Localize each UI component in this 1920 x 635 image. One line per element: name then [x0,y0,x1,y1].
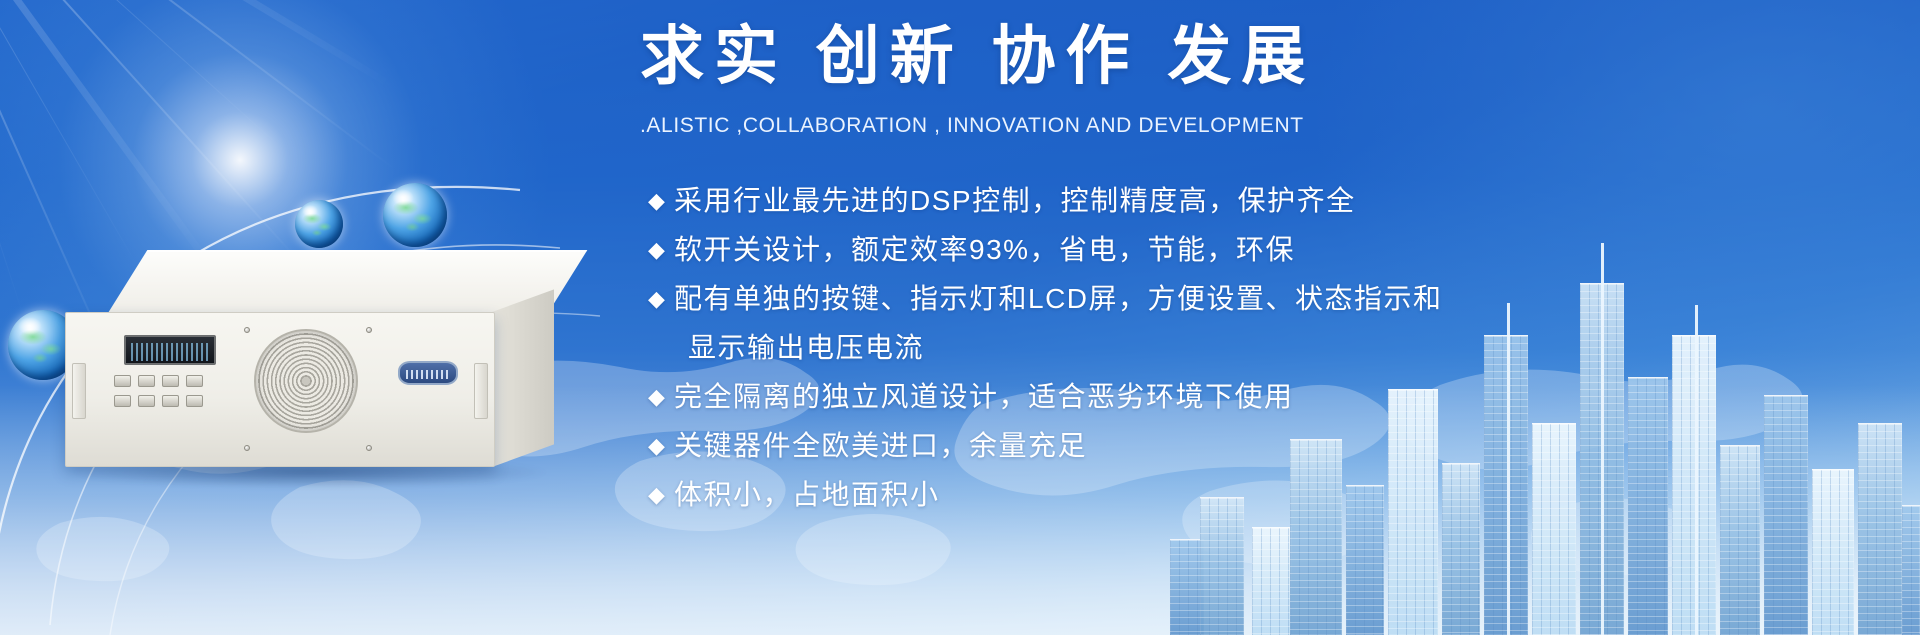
feature-bullet-item: ◆体积小，占地面积小 [648,470,1708,519]
feature-bullet-text: 软开关设计，额定效率93%，省电，节能，环保 [674,225,1295,274]
bullet-diamond-icon: ◆ [648,372,674,421]
promo-banner: 求实 创新 协作 发展 .ALISTIC ,COLLABORATION , IN… [0,0,1920,635]
feature-bullet-text: 关键器件全欧美进口，余量充足 [674,421,1087,470]
banner-content: 求实 创新 协作 发展 .ALISTIC ,COLLABORATION , IN… [0,0,1920,635]
feature-bullet-text: 体积小，占地面积小 [674,470,940,519]
feature-bullet-item: ◆显示输出电压电流 [648,323,1708,372]
feature-bullet-text: 显示输出电压电流 [674,323,924,372]
feature-bullet-text: 配有单独的按键、指示灯和LCD屏，方便设置、状态指示和 [674,274,1443,323]
feature-bullet-item: ◆配有单独的按键、指示灯和LCD屏，方便设置、状态指示和 [648,274,1708,323]
bullet-diamond-icon: ◆ [648,421,674,470]
subtitle: .ALISTIC ,COLLABORATION , INNOVATION AND… [640,114,1304,138]
bullet-diamond-icon: ◆ [648,274,674,323]
feature-bullet-item: ◆软开关设计，额定效率93%，省电，节能，环保 [648,225,1708,274]
bullet-diamond-icon: ◆ [648,176,674,225]
feature-bullet-item: ◆完全隔离的独立风道设计，适合恶劣环境下使用 [648,372,1708,421]
bullet-diamond-icon: ◆ [648,225,674,274]
feature-bullet-item: ◆关键器件全欧美进口，余量充足 [648,421,1708,470]
feature-bullet-text: 采用行业最先进的DSP控制，控制精度高，保护齐全 [674,176,1356,225]
headline: 求实 创新 协作 发展 [640,24,1315,89]
bullet-diamond-icon: ◆ [648,470,674,519]
feature-bullet-text: 完全隔离的独立风道设计，适合恶劣环境下使用 [674,372,1294,421]
feature-bullet-list: ◆采用行业最先进的DSP控制，控制精度高，保护齐全◆软开关设计，额定效率93%，… [648,176,1708,519]
feature-bullet-item: ◆采用行业最先进的DSP控制，控制精度高，保护齐全 [648,176,1708,225]
